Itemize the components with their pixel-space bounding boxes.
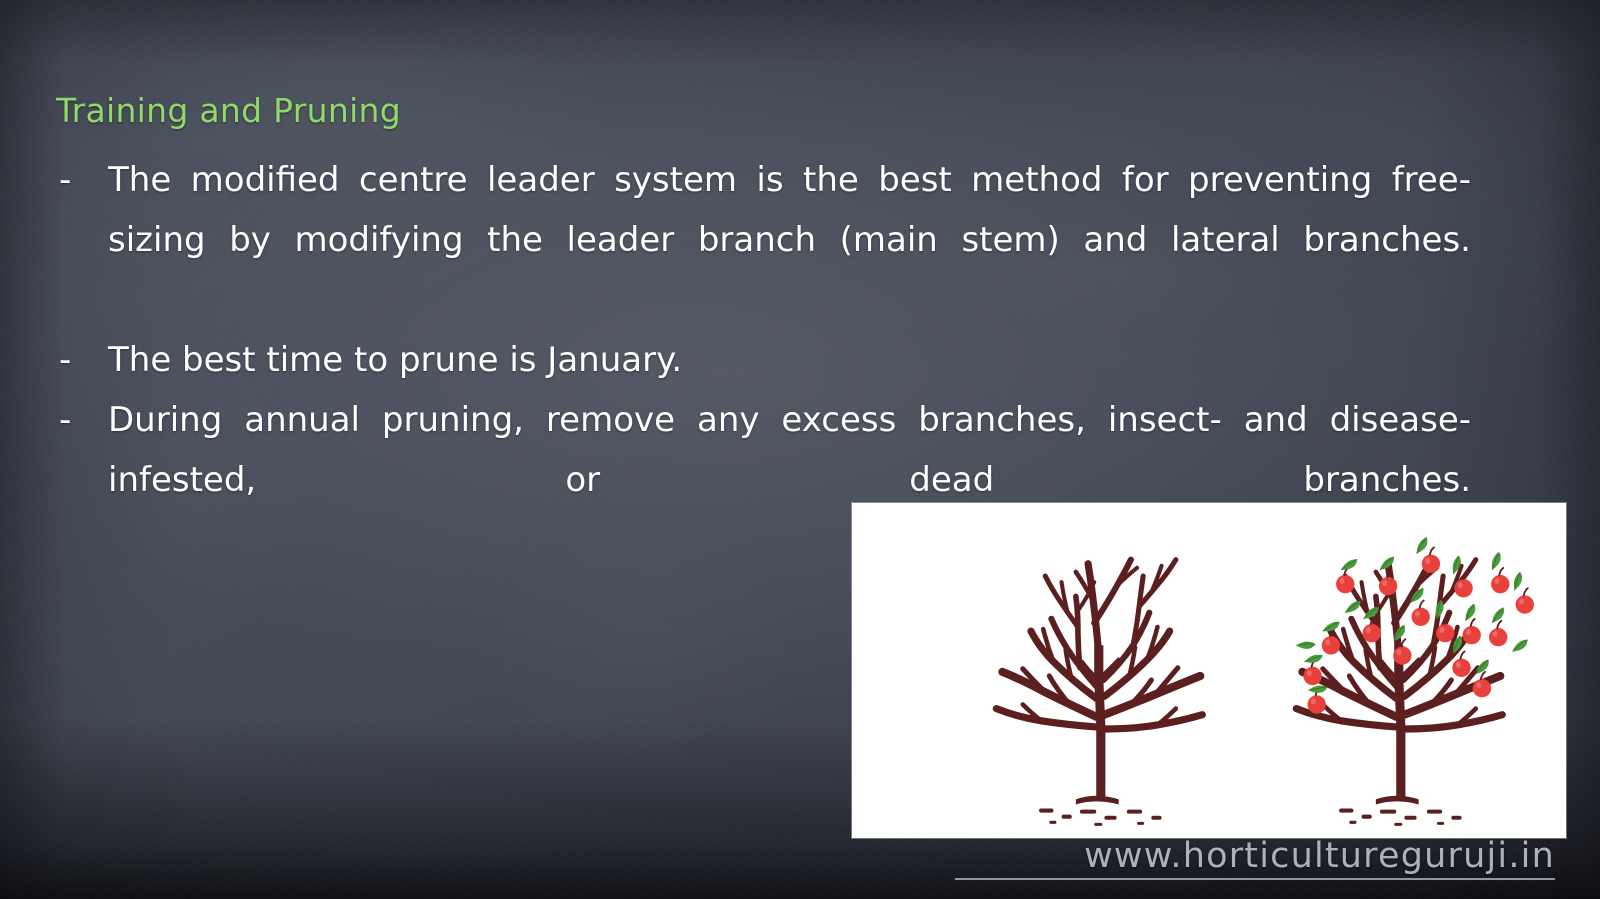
chalkboard-slide: Training and Pruning -The modified centr…: [0, 0, 1600, 899]
slide-title: Training and Pruning: [56, 94, 401, 127]
site-watermark: www.horticultureguruji.in: [955, 836, 1555, 880]
bullet-text-1: The modified centre leader system is the…: [108, 160, 1471, 260]
left-tree-bare: [996, 560, 1202, 826]
tree-illustration-panel: [852, 503, 1566, 838]
bullet-item-1: -The modified centre leader system is th…: [56, 150, 1471, 330]
bullet-marker-1: -: [59, 150, 81, 210]
bullet-text-3: During annual pruning, remove any excess…: [108, 400, 1471, 500]
two-tree-diagram: [852, 503, 1566, 838]
bullet-text-2: The best time to prune is January.: [108, 340, 682, 380]
bullet-marker-2: -: [59, 330, 81, 390]
slide-content: Training and Pruning -The modified centr…: [0, 0, 1600, 899]
right-tree-fruiting: [1296, 536, 1534, 825]
bullet-item-2: -The best time to prune is January.: [56, 330, 1471, 390]
bullet-marker-3: -: [59, 390, 81, 450]
